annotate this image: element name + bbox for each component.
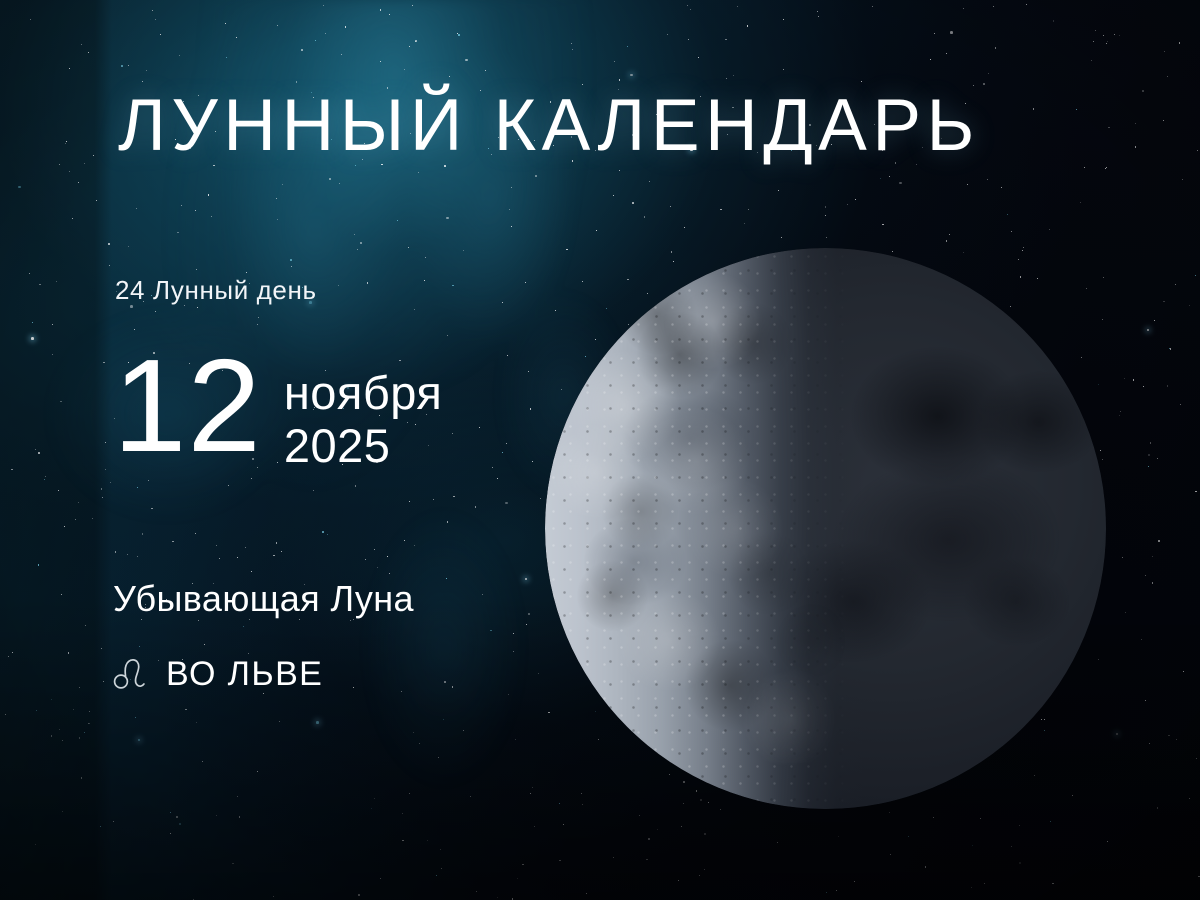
lunar-day-label: 24 Лунный день bbox=[115, 275, 317, 306]
date-block: 12 ноября 2025 bbox=[113, 352, 442, 472]
zodiac-label: ВО ЛЬВЕ bbox=[166, 655, 323, 694]
lunar-calendar-poster: ЛУННЫЙ КАЛЕНДАРЬ 24 Лунный день 12 ноябр… bbox=[0, 0, 1200, 900]
moon-image bbox=[545, 248, 1106, 809]
moon-phase-label: Убывающая Луна bbox=[113, 578, 414, 620]
moon-limb-shading bbox=[545, 248, 1106, 809]
zodiac-row: ВО ЛЬВЕ bbox=[110, 652, 323, 696]
page-title: ЛУННЫЙ КАЛЕНДАРЬ bbox=[118, 84, 980, 167]
year-number: 2025 bbox=[284, 420, 443, 473]
day-number: 12 bbox=[113, 352, 262, 460]
month-name: ноября bbox=[284, 367, 443, 420]
leo-zodiac-icon bbox=[110, 652, 154, 696]
month-year-group: ноября 2025 bbox=[284, 352, 443, 472]
